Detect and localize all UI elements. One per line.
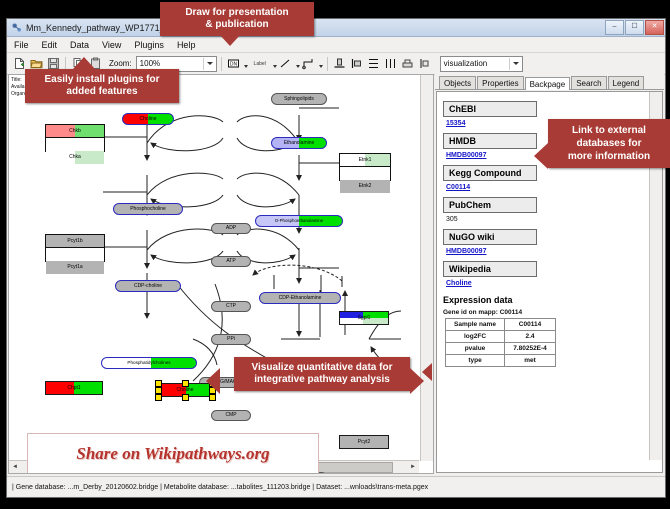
expression-data-title: Expression data <box>443 295 656 305</box>
zoom-label: Zoom: <box>109 59 132 68</box>
table-row: pvalue 7.80252E-4 <box>446 343 556 355</box>
callout-draw-line1: Draw for presentation <box>167 7 307 19</box>
distribute-vertical-icon[interactable] <box>366 56 382 72</box>
label-tool[interactable]: Label <box>249 56 271 72</box>
node-cdp-ethanolamine[interactable]: CDP-Ethanolamine <box>259 292 341 304</box>
callout-plugins-arrow-up-icon <box>73 57 95 69</box>
title-bar: Mm_Kennedy_pathway_WP1771_45176.gpml – ☐… <box>7 19 665 37</box>
datanode-chevron-down-icon[interactable] <box>243 55 248 73</box>
node-label: Ethanolamine <box>284 141 315 146</box>
tab-backpage[interactable]: Backpage <box>525 77 571 90</box>
svg-text:DN: DN <box>230 61 238 67</box>
node-label: Chpt1 <box>67 386 80 391</box>
selection-handle[interactable] <box>182 394 189 401</box>
node-pcyt1b[interactable]: Pcyt1b <box>46 235 104 248</box>
callout-plugins-line2: added features <box>32 86 172 98</box>
row-key: type <box>446 355 505 367</box>
node-label: Chka <box>69 155 81 160</box>
node-choline-top[interactable]: Choline <box>122 113 174 125</box>
node-ethanolamine-top[interactable]: Ethanolamine <box>271 137 327 149</box>
datanode-icon[interactable]: DN <box>226 56 242 72</box>
node-chkb-chka-group[interactable]: Chkb Chka <box>45 124 105 152</box>
menu-bar: File Edit Data View Plugins Help <box>7 37 665 53</box>
backpage-header: HMDB <box>443 133 537 149</box>
group-icon[interactable] <box>417 56 433 72</box>
tab-legend[interactable]: Legend <box>608 76 645 89</box>
app-icon <box>11 22 22 33</box>
node-ctp[interactable]: CTP <box>211 301 251 312</box>
table-row: type met <box>446 355 556 367</box>
selection-handle[interactable] <box>155 380 162 387</box>
menu-plugins[interactable]: Plugins <box>132 39 166 51</box>
row-key: Sample name <box>446 319 505 331</box>
maximize-button[interactable]: ☐ <box>625 20 644 35</box>
node-etnk-group[interactable]: Etnk1 Etnk2 <box>339 153 391 181</box>
row-value: 7.80252E-4 <box>505 343 556 355</box>
node-label: Chkb <box>69 129 81 134</box>
node-label: Etnk2 <box>359 184 372 189</box>
callout-visualize-arrow-left-icon <box>206 368 220 394</box>
node-pcyt1a[interactable]: Pcyt1a <box>46 261 104 274</box>
callout-visualize-line2: integrative pathway analysis <box>241 374 403 386</box>
tab-properties[interactable]: Properties <box>477 76 523 89</box>
node-label: CMP <box>225 413 236 418</box>
node-label: Pcyt2 <box>358 440 371 445</box>
node-label: Pcyt1b <box>67 239 82 244</box>
node-label: Sphingolipids <box>284 97 314 102</box>
gene-id-note: Gene id on mapp: C00114 <box>443 309 656 316</box>
toolbar-separator-2 <box>221 57 222 71</box>
node-etnk1[interactable]: Etnk1 <box>340 154 390 167</box>
row-value: 2.4 <box>505 331 556 343</box>
selection-handle[interactable] <box>209 394 216 401</box>
close-button[interactable]: ✕ <box>645 20 664 35</box>
backpage-header: ChEBI <box>443 101 537 117</box>
row-value: C00114 <box>505 319 556 331</box>
menu-data[interactable]: Data <box>68 39 91 51</box>
callout-visualize: Visualize quantitative data for integrat… <box>234 357 410 391</box>
share-banner: Share on Wikipathways.org <box>27 433 319 474</box>
backpage-link-nugo[interactable]: HMDB00097 <box>446 248 656 255</box>
row-value: met <box>505 355 556 367</box>
node-cdp-choline[interactable]: CDP-choline <box>115 280 181 292</box>
callout-plugins: Easily install plugins for added feature… <box>25 69 179 103</box>
selection-handle[interactable] <box>182 380 189 387</box>
selection-handle[interactable] <box>155 394 162 401</box>
menu-help[interactable]: Help <box>175 39 198 51</box>
backpage-header: Wikipedia <box>443 261 537 277</box>
sidebar-tabs: Objects Properties Backpage Search Legen… <box>435 74 664 90</box>
callout-visualize-line1: Visualize quantitative data for <box>241 362 403 374</box>
node-sphingolipids[interactable]: Sphingolipids <box>271 93 327 105</box>
callout-link: Link to external databases for more info… <box>548 119 670 168</box>
node-pcyt1-group[interactable]: Pcyt1b Pcyt1a <box>45 234 105 262</box>
node-label: CDP-choline <box>134 284 162 289</box>
node-o-phosphoethanolamine[interactable]: O-Phosphoethanolamine <box>255 215 343 227</box>
node-label: Phosphocholine <box>130 207 166 212</box>
node-label: Choline <box>177 388 194 393</box>
status-text: | Gene database: ...m_Derby_20120602.bri… <box>12 484 428 491</box>
node-label: Pcyt1a <box>67 265 82 270</box>
callout-plugins-line1: Easily install plugins for <box>32 74 172 86</box>
callout-draw-arrow-down-icon <box>219 34 241 46</box>
backpage-section-nugo: NuGO wiki HMDB00097 <box>443 224 656 255</box>
callout-draw: Draw for presentation & publication <box>160 2 314 36</box>
connector-chevron-down-icon[interactable] <box>318 55 323 73</box>
window-controls: – ☐ ✕ <box>605 20 665 35</box>
callout-draw-line2: & publication <box>167 19 307 31</box>
backpage-link-kegg[interactable]: C00114 <box>446 184 656 191</box>
status-bar: | Gene database: ...m_Derby_20120602.bri… <box>7 476 665 497</box>
node-label: ADP <box>226 226 236 231</box>
node-label: Sgpl1 <box>358 316 371 321</box>
label-chevron-down-icon[interactable] <box>272 55 277 73</box>
node-etnk2[interactable]: Etnk2 <box>340 180 390 193</box>
node-cmp[interactable]: CMP <box>211 410 251 421</box>
minimize-button[interactable]: – <box>605 20 624 35</box>
node-label: Choline <box>140 117 157 122</box>
callout-link-arrow-left-icon <box>534 143 548 169</box>
callout-link-line1: Link to external <box>555 124 663 137</box>
zoom-value: 100% <box>140 59 160 68</box>
node-sgpl1[interactable]: Sgpl1 <box>339 311 389 325</box>
node-phosphocholine[interactable]: Phosphocholine <box>113 203 183 215</box>
visualization-value: visualization <box>444 59 488 68</box>
backpage-header: PubChem <box>443 197 537 213</box>
visualization-chevron-down-icon[interactable] <box>509 58 522 70</box>
pathway-canvas[interactable]: Title: Availa Organ <box>8 74 434 474</box>
line-icon[interactable] <box>278 56 294 72</box>
line-chevron-down-icon[interactable] <box>295 55 300 73</box>
callout-link-arrow-expression-icon <box>422 363 432 381</box>
backpage-section-pubchem: PubChem 305 <box>443 192 656 223</box>
row-key: pvalue <box>446 343 505 355</box>
table-row: Sample name C00114 <box>446 319 556 331</box>
tab-objects[interactable]: Objects <box>439 76 476 89</box>
screenshot-root: Mm_Kennedy_pathway_WP1771_45176.gpml – ☐… <box>0 0 670 509</box>
menu-edit[interactable]: Edit <box>40 39 60 51</box>
share-text: Share on Wikipathways.org <box>76 444 269 464</box>
node-label: Phosphatidylcholines <box>127 361 170 366</box>
backpage-header: Kegg Compound <box>443 165 537 181</box>
align-left-icon[interactable] <box>349 56 365 72</box>
node-chkb[interactable]: Chkb <box>46 125 104 138</box>
node-pcyt2[interactable]: Pcyt2 <box>339 435 389 449</box>
node-chpt1[interactable]: Chpt1 <box>45 381 103 395</box>
node-atp[interactable]: ATP <box>211 256 251 267</box>
node-label: O-Phosphoethanolamine <box>275 219 324 223</box>
callout-link-line3: more information <box>555 150 663 163</box>
backpage-header: NuGO wiki <box>443 229 537 245</box>
visualization-combo[interactable]: visualization <box>440 56 523 72</box>
align-bottom-icon[interactable] <box>332 56 348 72</box>
backpage-value-pubchem: 305 <box>446 216 656 223</box>
backpage-section-wikipedia: Wikipedia Choline <box>443 256 656 287</box>
selection-handle[interactable] <box>155 387 162 394</box>
node-label: Etnk1 <box>359 158 372 163</box>
stack-icon[interactable] <box>400 56 416 72</box>
expression-data-table: Sample name C00114 log2FC 2.4 pvalue 7.8… <box>445 318 556 367</box>
distribute-horizontal-icon[interactable] <box>383 56 399 72</box>
toolbar-separator-3 <box>327 57 328 71</box>
table-row: log2FC 2.4 <box>446 331 556 343</box>
node-ppi[interactable]: PPi <box>211 334 251 345</box>
backpage-link-wikipedia[interactable]: Choline <box>446 280 656 287</box>
row-key: log2FC <box>446 331 505 343</box>
node-label: CDP-Ethanolamine <box>279 296 322 301</box>
node-adp[interactable]: ADP <box>211 223 251 234</box>
tab-search[interactable]: Search <box>571 76 606 89</box>
node-chka[interactable]: Chka <box>46 151 104 164</box>
connector-icon[interactable] <box>301 56 317 72</box>
node-label: CTP <box>226 304 236 309</box>
node-phosphatidylcholines[interactable]: Phosphatidylcholines <box>101 357 197 369</box>
zoom-chevron-down-icon[interactable] <box>203 58 216 70</box>
callout-link-line2: databases for <box>555 137 663 150</box>
node-label: PPi <box>227 337 235 342</box>
menu-view[interactable]: View <box>100 39 123 51</box>
menu-file[interactable]: File <box>12 39 31 51</box>
node-label: ATP <box>226 259 235 264</box>
